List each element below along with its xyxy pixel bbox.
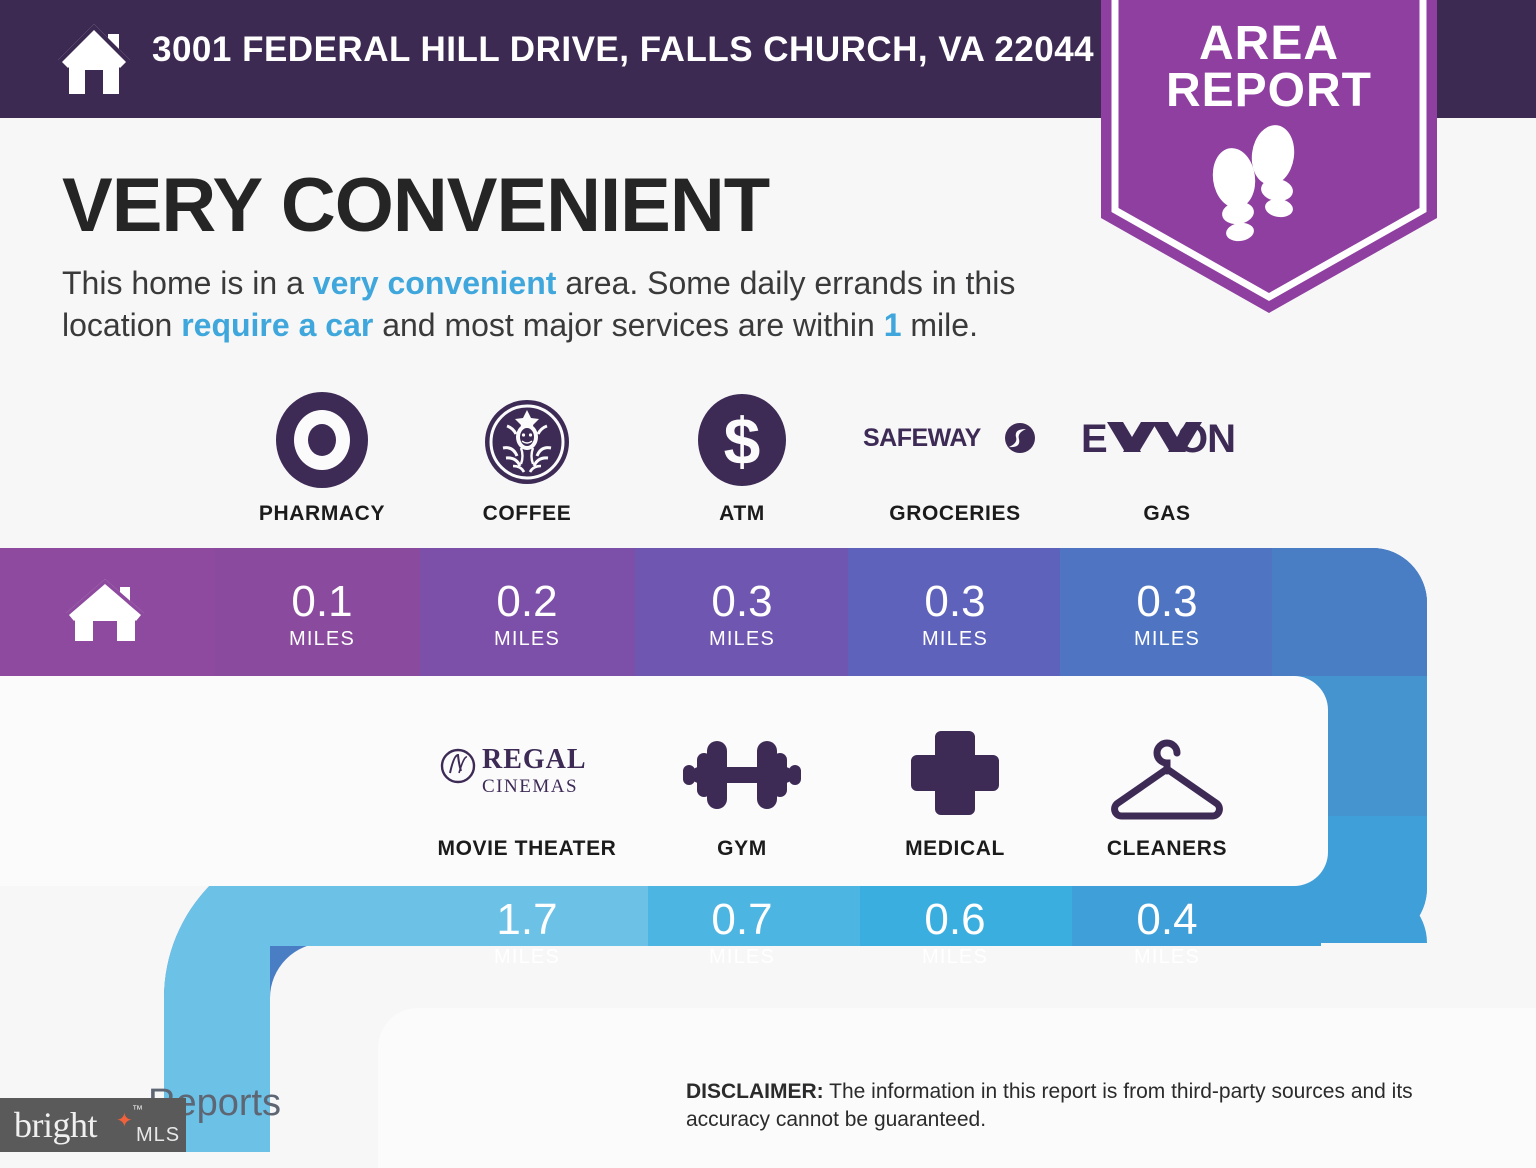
desc-text-4: mile.: [902, 307, 978, 343]
amenity-label: GYM: [635, 837, 849, 861]
distance-value: 0.3: [1060, 580, 1274, 624]
distance-value: 0.3: [635, 580, 849, 624]
amenity-label: MEDICAL: [848, 837, 1062, 861]
distance-unit: MILES: [635, 946, 849, 969]
amenity-label: CLEANERS: [1060, 837, 1274, 861]
safeway-logo-icon: SAFEWAY: [848, 390, 1062, 490]
desc-text-3: and most major services are within: [373, 307, 883, 343]
distance-value: 0.2: [420, 580, 634, 624]
svg-text:CINEMAS: CINEMAS: [482, 776, 578, 797]
distance-medical: 0.6 MILES: [848, 898, 1062, 969]
amenity-gas: E ON GAS: [1060, 390, 1274, 526]
amenity-coffee: COFFEE: [420, 390, 634, 526]
badge-line-2: REPORT: [1101, 67, 1437, 114]
distance-unit: MILES: [1060, 946, 1274, 969]
row2-icons: REGAL CINEMAS MOVIE THEATER GYM: [0, 725, 1536, 875]
amenity-pharmacy: PHARMACY: [215, 390, 429, 526]
amenity-atm: $ ATM: [635, 390, 849, 526]
distance-unit: MILES: [635, 628, 849, 651]
distance-value: 0.3: [848, 580, 1062, 624]
svg-text:$: $: [724, 404, 761, 478]
distance-unit: MILES: [420, 628, 634, 651]
area-report-badge: AREA REPORT: [1101, 0, 1437, 313]
distance-value: 0.1: [215, 580, 429, 624]
distance-cleaners: 0.4 MILES: [1060, 898, 1274, 969]
dollar-circle-icon: $: [635, 390, 849, 490]
watermark-mls-text: MLS: [136, 1124, 180, 1147]
home-icon: [52, 20, 136, 98]
distance-unit: MILES: [848, 946, 1062, 969]
area-report-page: 3001 FEDERAL HILL DRIVE, FALLS CHURCH, V…: [0, 0, 1536, 1152]
star-icon: ✦: [116, 1108, 133, 1133]
medical-cross-icon: [848, 725, 1062, 825]
amenity-movie-theater: REGAL CINEMAS MOVIE THEATER: [420, 725, 634, 861]
distance-value: 1.7: [420, 898, 634, 942]
distance-unit: MILES: [215, 628, 429, 651]
distance-value: 0.4: [1060, 898, 1274, 942]
svg-text:E: E: [1081, 417, 1107, 461]
target-bullseye-icon: [215, 390, 429, 490]
amenity-label: GAS: [1060, 502, 1274, 526]
disclaimer-text: DISCLAIMER: The information in this repo…: [686, 1078, 1486, 1135]
distance-unit: MILES: [848, 628, 1062, 651]
desc-highlight-1: very convenient: [313, 265, 557, 301]
amenity-gym: GYM: [635, 725, 849, 861]
distance-value: 0.6: [848, 898, 1062, 942]
distance-gas: 0.3 MILES: [1060, 580, 1274, 651]
property-address: 3001 FEDERAL HILL DRIVE, FALLS CHURCH, V…: [152, 30, 1094, 70]
distance-unit: MILES: [420, 946, 634, 969]
distance-unit: MILES: [1060, 628, 1274, 651]
watermark-tm: ™: [132, 1104, 143, 1116]
amenity-label: GROCERIES: [848, 502, 1062, 526]
page-title: VERY CONVENIENT: [62, 168, 769, 244]
desc-highlight-2: require a car: [181, 307, 373, 343]
distance-gym: 0.7 MILES: [635, 898, 849, 969]
badge-line-1: AREA: [1101, 20, 1437, 67]
amenity-groceries: SAFEWAY GROCERIES: [848, 390, 1062, 526]
amenity-label: COFFEE: [420, 502, 634, 526]
exxon-logo-icon: E ON: [1060, 390, 1274, 490]
distance-movie-theater: 1.7 MILES: [420, 898, 634, 969]
row1-icons: PHARMACY: [0, 390, 1536, 545]
badge-label: AREA REPORT: [1101, 20, 1437, 114]
dumbbell-icon: [635, 725, 849, 825]
svg-text:REGAL: REGAL: [482, 744, 587, 775]
regal-cinemas-logo-icon: REGAL CINEMAS: [420, 725, 634, 825]
home-icon: [62, 575, 148, 645]
distance-coffee: 0.2 MILES: [420, 580, 634, 651]
amenity-label: ATM: [635, 502, 849, 526]
desc-highlight-3: 1: [884, 307, 902, 343]
amenity-medical: MEDICAL: [848, 725, 1062, 861]
amenity-label: PHARMACY: [215, 502, 429, 526]
desc-text-1: This home is in a: [62, 265, 313, 301]
distance-value: 0.7: [635, 898, 849, 942]
watermark-wordmark: bright: [14, 1104, 97, 1146]
distance-groceries: 0.3 MILES: [848, 580, 1062, 651]
amenity-label: MOVIE THEATER: [420, 837, 634, 861]
disclaimer-label: DISCLAIMER:: [686, 1080, 824, 1103]
starbucks-siren-icon: [420, 390, 634, 490]
amenity-cleaners: CLEANERS: [1060, 725, 1274, 861]
distance-pharmacy: 0.1 MILES: [215, 580, 429, 651]
bright-mls-watermark: bright ✦ ™ MLS: [0, 1098, 186, 1152]
page-description: This home is in a very convenient area. …: [62, 262, 1082, 346]
clothes-hanger-icon: [1060, 725, 1274, 825]
distance-atm: 0.3 MILES: [635, 580, 849, 651]
svg-text:SAFEWAY: SAFEWAY: [863, 424, 982, 452]
